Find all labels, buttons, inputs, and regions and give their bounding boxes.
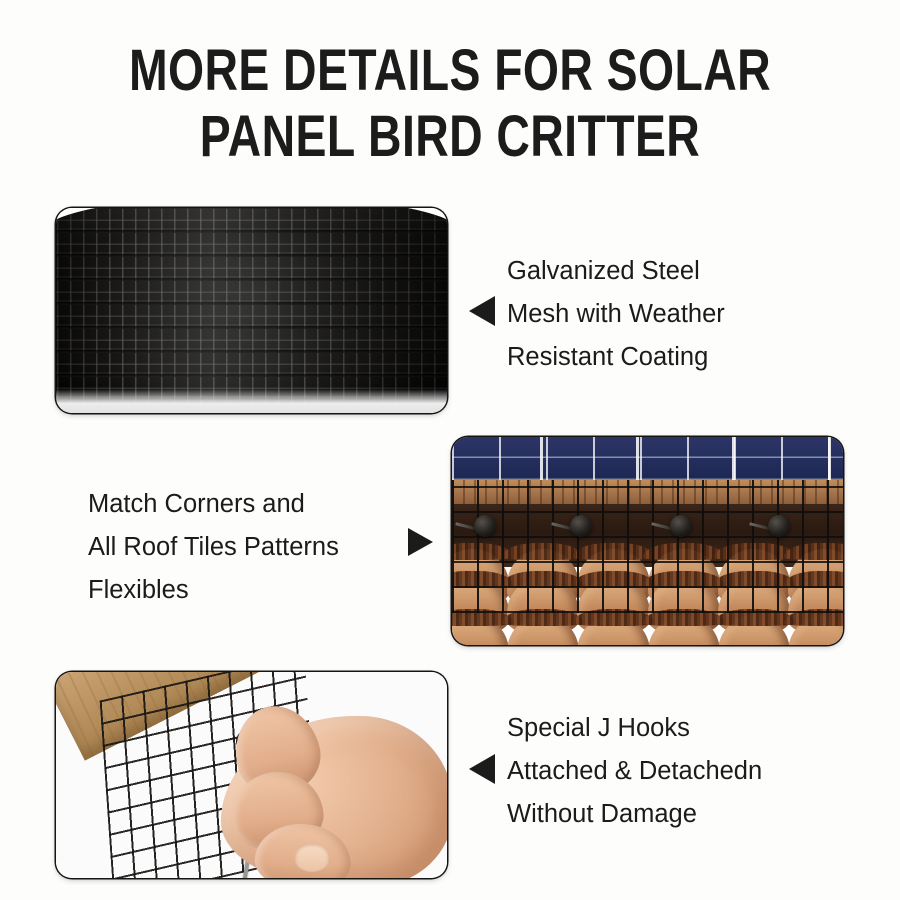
- j-hook-clip: [474, 515, 496, 537]
- j-hook-disc: [570, 515, 592, 537]
- j-hook-clip: [570, 515, 592, 537]
- caption-galvanized-mesh: Galvanized Steel Mesh with Weather Resis…: [507, 250, 725, 379]
- roof-tile: [788, 615, 843, 645]
- hand: [221, 716, 447, 878]
- image-roof-tiles: [452, 437, 843, 645]
- j-hook-clip: [670, 515, 692, 537]
- solar-panel-array: [452, 437, 843, 480]
- critter-guard-mesh: [452, 480, 843, 613]
- caption-line: Match Corners and: [88, 483, 339, 526]
- infographic-page: MORE DETAILS FOR SOLAR PANEL BIRD CRITTE…: [0, 0, 900, 900]
- thumb-nail: [295, 844, 329, 872]
- page-title: MORE DETAILS FOR SOLAR PANEL BIRD CRITTE…: [0, 38, 900, 170]
- caption-line: Attached & Detachedn: [507, 750, 762, 793]
- caption-line: All Roof Tiles Patterns: [88, 526, 339, 569]
- j-hook-disc: [474, 515, 496, 537]
- roof-tile: [452, 615, 509, 645]
- mesh-roll-floor-shadow: [56, 389, 447, 413]
- caption-match-corners: Match Corners and All Roof Tiles Pattern…: [88, 483, 339, 612]
- caption-line: Mesh with Weather: [507, 293, 725, 336]
- roof-tile: [648, 615, 720, 645]
- j-hook-disc: [670, 515, 692, 537]
- caption-line: Without Damage: [507, 793, 762, 836]
- arrow-left-icon-mesh: [469, 296, 495, 326]
- image-hand-hook: [56, 672, 447, 878]
- image-mesh-roll: [56, 208, 447, 413]
- caption-line: Special J Hooks: [507, 707, 762, 750]
- mesh-roll-shading: [56, 208, 447, 413]
- arrow-left-icon-hook: [469, 754, 495, 784]
- caption-line: Flexibles: [88, 569, 339, 612]
- page-title-line-2: PANEL BIRD CRITTER: [90, 104, 810, 170]
- caption-line: Resistant Coating: [507, 336, 725, 379]
- roof-tile-row-front: [452, 615, 843, 645]
- caption-line: Galvanized Steel: [507, 250, 725, 293]
- page-title-line-1: MORE DETAILS FOR SOLAR: [90, 38, 810, 104]
- arrow-right-icon-tiles: [408, 528, 433, 556]
- roof-tile: [577, 615, 649, 645]
- caption-special-j-hooks: Special J Hooks Attached & Detachedn Wit…: [507, 707, 762, 836]
- roof-tile: [718, 615, 790, 645]
- mesh-roll-body: [56, 208, 447, 413]
- j-hook-clip: [768, 515, 790, 537]
- roof-tile: [507, 615, 579, 645]
- j-hook-disc: [768, 515, 790, 537]
